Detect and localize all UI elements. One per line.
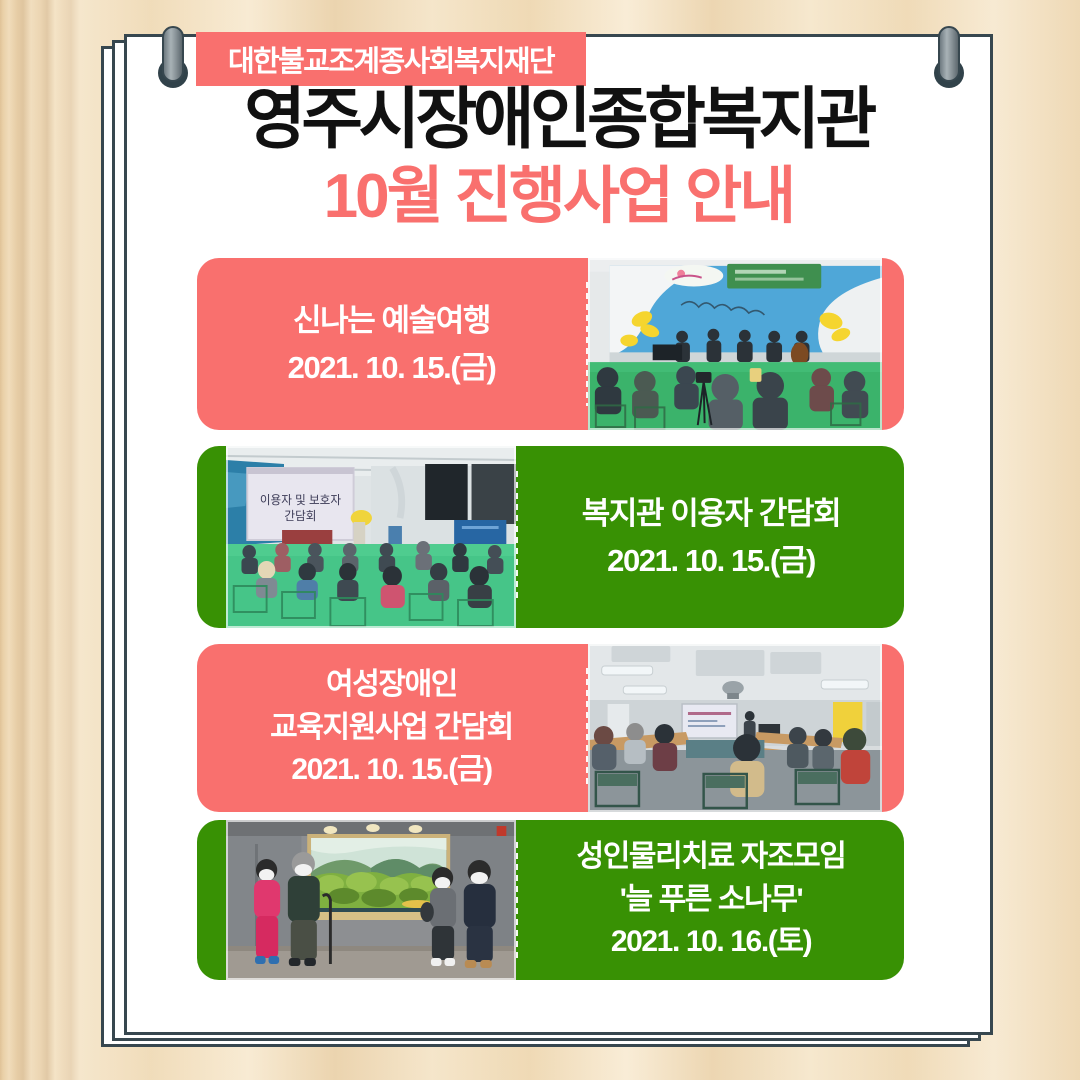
program-card-3-line-2: 교육지원사업 간담회: [270, 707, 513, 750]
program-card-2[interactable]: 이용자 및 보호자 간담회: [197, 446, 904, 628]
program-card-4-line-3: 2021. 10. 16.(토): [611, 921, 811, 964]
poster-content: 대한불교조계종사회복지재단 영주시장애인종합복지관 10월 진행사업 안내 신나…: [124, 34, 993, 1035]
page-title: 영주시장애인종합복지관: [124, 82, 993, 157]
program-card-1-text: 신나는 예술여행 2021. 10. 15.(금): [197, 258, 586, 430]
pin-shaft: [162, 26, 184, 82]
program-card-1[interactable]: 신나는 예술여행 2021. 10. 15.(금): [197, 258, 904, 430]
program-card-2-line-1: 복지관 이용자 간담회: [582, 490, 841, 537]
photo-art-concert: [588, 258, 882, 430]
program-card-3-line-1: 여성장애인: [326, 664, 457, 707]
program-card-2-text: 복지관 이용자 간담회 2021. 10. 15.(금): [518, 446, 904, 628]
photo-user-meeting: 이용자 및 보호자 간담회: [226, 446, 516, 628]
dotted-divider: [516, 471, 518, 602]
program-card-4-text: 성인물리치료 자조모임 '늘 푸른 소나무' 2021. 10. 16.(토): [518, 820, 904, 980]
pin-shaft: [938, 26, 960, 82]
program-card-4-line-1: 성인물리치료 자조모임: [577, 836, 846, 879]
organization-badge-label: 대한불교조계종사회복지재단: [228, 38, 554, 80]
svg-text:간담회: 간담회: [284, 509, 316, 523]
program-card-3[interactable]: 여성장애인 교육지원사업 간담회 2021. 10. 15.(금): [197, 644, 904, 812]
program-card-3-line-3: 2021. 10. 15.(금): [291, 749, 491, 792]
program-card-4-line-2: '늘 푸른 소나무': [620, 879, 803, 922]
program-card-1-line-1: 신나는 예술여행: [293, 297, 490, 344]
photo-women-edu-meeting: [588, 644, 882, 812]
dotted-divider: [516, 842, 518, 957]
svg-text:이용자 및 보호자: 이용자 및 보호자: [260, 493, 341, 507]
program-card-1-line-2: 2021. 10. 15.(금): [288, 344, 496, 391]
pin-icon-left: [158, 26, 188, 96]
page-subtitle: 10월 진행사업 안내: [124, 162, 993, 231]
program-card-3-text: 여성장애인 교육지원사업 간담회 2021. 10. 15.(금): [197, 644, 586, 812]
poster-canvas: 대한불교조계종사회복지재단 영주시장애인종합복지관 10월 진행사업 안내 신나…: [0, 0, 1080, 1080]
organization-badge: 대한불교조계종사회복지재단: [196, 32, 586, 86]
pin-icon-right: [934, 26, 964, 96]
program-card-4[interactable]: 성인물리치료 자조모임 '늘 푸른 소나무' 2021. 10. 16.(토): [197, 820, 904, 980]
program-card-2-line-2: 2021. 10. 15.(금): [607, 537, 815, 584]
photo-self-help-group: [226, 820, 516, 980]
